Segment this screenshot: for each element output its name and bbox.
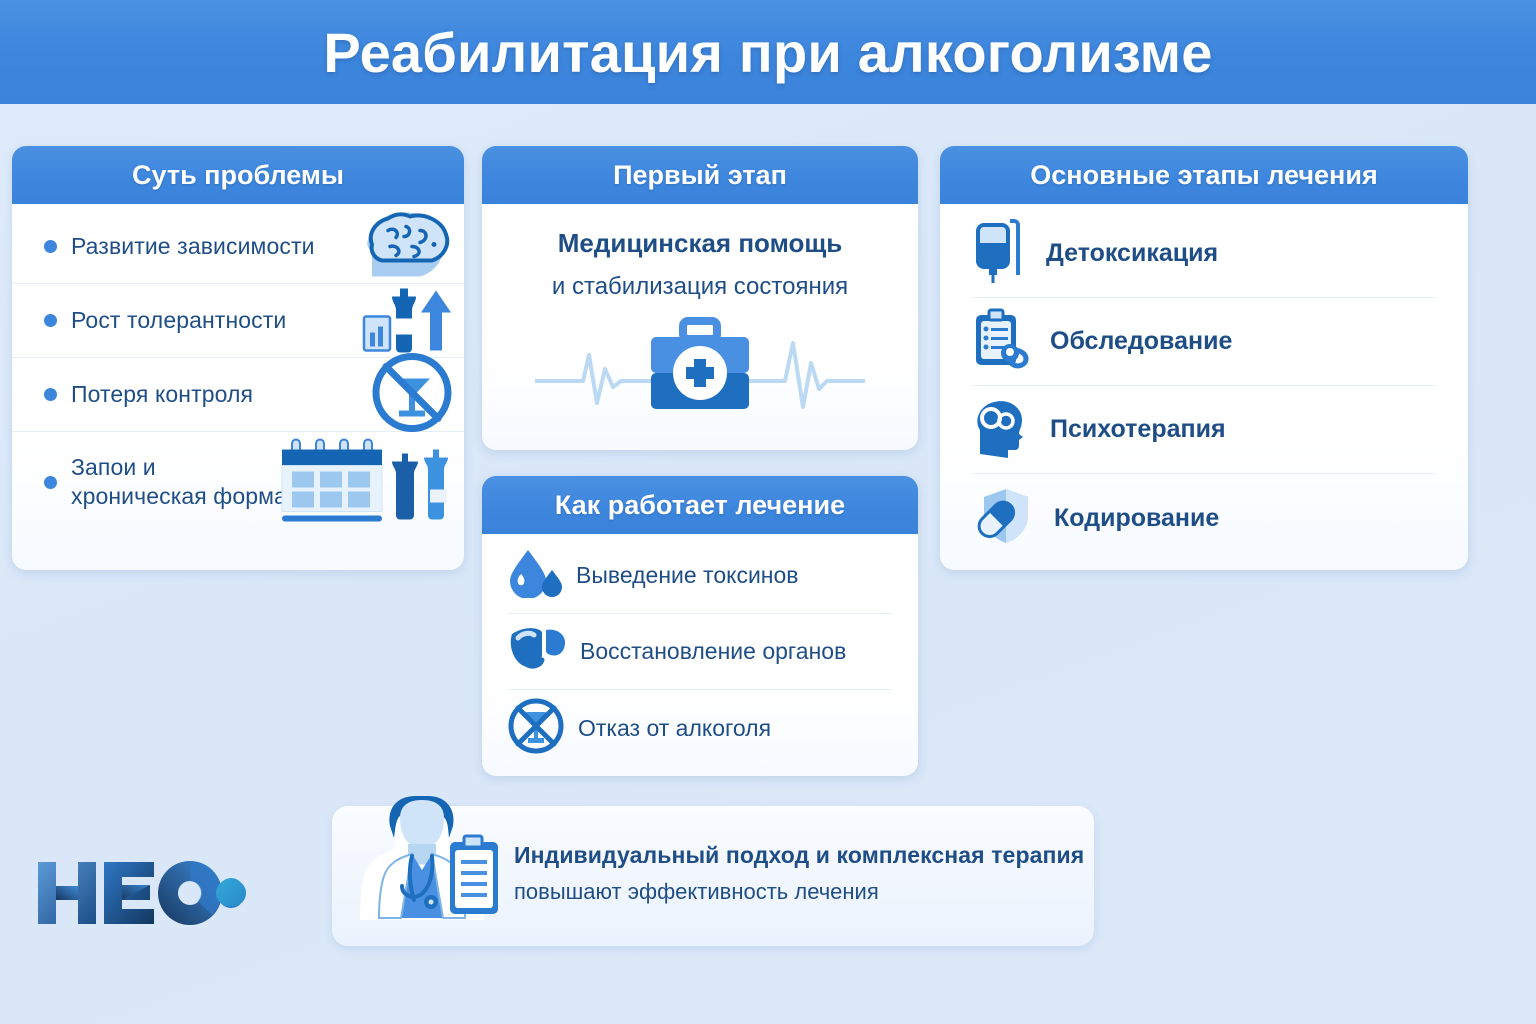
head-gears-icon [972,396,1030,463]
brain-head-icon [358,210,454,283]
clipboard-stethoscope-icon [972,307,1030,376]
bullet-dot-icon [44,476,57,489]
list-item[interactable]: Восстановление органов [508,614,892,690]
first-aid-kit-ecg-icon [535,309,865,426]
list-item[interactable]: Рост толерантности [12,284,464,358]
iv-drip-bag-icon [972,217,1026,290]
card-treatment-stages-header: Основные этапы лечения [940,146,1468,204]
bottle-growth-arrow-icon [362,282,454,359]
doctor-clipboard-icon [354,782,526,951]
card-problem: Суть проблемы Развитие зависимости [12,146,464,570]
card-first-stage-body: Медицинская помощь и стабилизация состоя… [482,204,918,450]
list-item[interactable]: Выведение токсинов [508,538,892,614]
card-how-it-works-body: Выведение токсинов Восстановление органо… [482,534,918,776]
bullet-dot-icon [44,240,57,253]
list-item-label: Запои и хроническая форма [71,453,287,511]
pill-shield-icon [972,485,1034,552]
card-how-it-works: Как работает лечение Выведение токсинов [482,476,918,776]
list-item-label: Отказ от алкоголя [578,715,771,742]
first-stage-line2: и стабилизация состояния [552,273,848,301]
card-treatment-stages-body: Детоксикация Обслед [940,204,1468,570]
card-treatment-stages-title: Основные этапы лечения [1030,160,1377,191]
card-treatment-stages: Основные этапы лечения Детоксикация [940,146,1468,570]
list-item[interactable]: Обследование [972,298,1436,386]
bullet-dot-icon [44,388,57,401]
list-item[interactable]: Детоксикация [972,210,1436,298]
list-item-label-line2: хроническая форма [71,482,287,511]
list-item-label: Детоксикация [1046,239,1218,268]
list-item-label: Обследование [1050,327,1232,356]
card-problem-title: Суть проблемы [132,160,344,191]
list-item-label: Выведение токсинов [576,562,799,589]
card-first-stage-title: Первый этап [613,160,787,191]
card-how-it-works-title: Как работает лечение [555,490,845,521]
list-item[interactable]: Отказ от алкоголя [508,690,892,766]
card-problem-header: Суть проблемы [12,146,464,204]
summary-banner-line1: Индивидуальный подход и комплексная тера… [514,842,1084,869]
first-stage-line1: Медицинская помощь [558,228,843,259]
list-item[interactable]: Запои и хроническая форма [12,432,464,532]
list-item-label: Рост толерантности [71,306,286,335]
summary-banner-line2: повышают эффективность лечения [514,879,1084,905]
card-first-stage: Первый этап Медицинская помощь и стабили… [482,146,918,450]
list-item[interactable]: Психотерапия [972,386,1436,474]
list-item[interactable]: Потеря контроля [12,358,464,432]
page-title: Реабилитация при алкоголизме [323,20,1212,85]
water-drop-icon [508,548,562,603]
page-header: Реабилитация при алкоголизме [0,0,1536,104]
summary-banner: Индивидуальный подход и комплексная тера… [332,806,1094,946]
list-item-label: Кодирование [1054,504,1219,533]
no-alcohol-icon [370,350,454,439]
bullet-dot-icon [44,314,57,327]
liver-icon [508,626,566,677]
list-item-label: Психотерапия [1050,415,1226,444]
list-item[interactable]: Кодирование [972,474,1436,562]
calendar-bottles-icon [278,432,454,533]
neo-plus-logo[interactable] [34,852,250,939]
summary-banner-text: Индивидуальный подход и комплексная тера… [514,842,1084,905]
list-item-label-line1: Запои и [71,453,287,482]
card-how-it-works-header: Как работает лечение [482,476,918,534]
list-item-label: Потеря контроля [71,380,253,409]
card-problem-body: Развитие зависимости Рост толерантности [12,204,464,570]
card-first-stage-header: Первый этап [482,146,918,204]
no-alcohol-wheel-icon [508,698,564,759]
list-item[interactable]: Развитие зависимости [12,210,464,284]
list-item-label: Развитие зависимости [71,232,315,261]
list-item-label: Восстановление органов [580,638,846,665]
